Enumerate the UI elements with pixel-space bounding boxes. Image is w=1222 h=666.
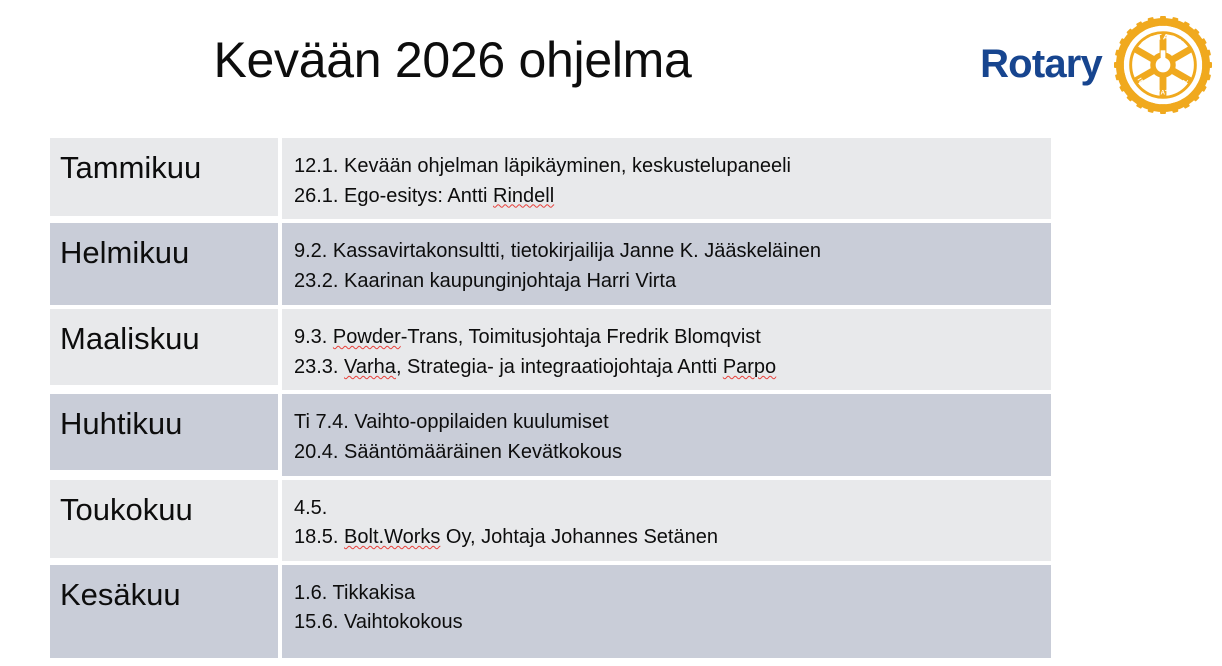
table-row: Toukokuu4.5.18.5. Bolt.Works Oy, Johtaja… — [50, 480, 1051, 565]
month-label: Tammikuu — [60, 150, 270, 187]
events-cell: 9.2. Kassavirtakonsultti, tietokirjailij… — [282, 223, 1051, 309]
page-title: Kevään 2026 ohjelma — [0, 33, 905, 88]
event-line: 12.1. Kevään ohjelman läpikäyminen, kesk… — [294, 152, 1043, 182]
table-row: Tammikuu12.1. Kevään ohjelman läpikäymin… — [50, 138, 1051, 223]
month-label: Kesäkuu — [60, 577, 270, 614]
rotary-gear-wheel-icon: ROTARY INTERNATIONAL — [1114, 16, 1212, 114]
month-cell: Tammikuu — [50, 138, 282, 223]
rotary-wordmark: Rotary — [980, 44, 1102, 84]
table-body: Tammikuu12.1. Kevään ohjelman läpikäymin… — [50, 138, 1051, 662]
event-line: 1.6. Tikkakisa — [294, 579, 1043, 609]
event-line: 26.1. Ego-esitys: Antti Rindell — [294, 182, 1043, 212]
spring-program-table: Tammikuu12.1. Kevään ohjelman läpikäymin… — [50, 138, 1051, 662]
event-line: Ti 7.4. Vaihto-oppilaiden kuulumiset — [294, 408, 1043, 438]
event-line: 23.3. Varha, Strategia- ja integraatiojo… — [294, 353, 1043, 383]
month-label: Huhtikuu — [60, 406, 270, 443]
month-label: Helmikuu — [60, 235, 270, 272]
month-cell: Toukokuu — [50, 480, 282, 565]
events-cell: Ti 7.4. Vaihto-oppilaiden kuulumiset20.4… — [282, 394, 1051, 479]
table-row: HuhtikuuTi 7.4. Vaihto-oppilaiden kuulum… — [50, 394, 1051, 479]
table-row: Kesäkuu1.6. Tikkakisa15.6. Vaihtokokous — [50, 565, 1051, 662]
events-cell: 12.1. Kevään ohjelman läpikäyminen, kesk… — [282, 138, 1051, 223]
month-cell: Kesäkuu — [50, 565, 282, 662]
event-line: 23.2. Kaarinan kaupunginjohtaja Harri Vi… — [294, 267, 1043, 297]
month-label: Maaliskuu — [60, 321, 270, 358]
event-line: 18.5. Bolt.Works Oy, Johtaja Johannes Se… — [294, 523, 1043, 553]
month-cell: Helmikuu — [50, 223, 282, 309]
event-line: 20.4. Sääntömääräinen Kevätkokous — [294, 438, 1043, 468]
event-line: 9.2. Kassavirtakonsultti, tietokirjailij… — [294, 237, 1043, 267]
events-cell: 4.5.18.5. Bolt.Works Oy, Johtaja Johanne… — [282, 480, 1051, 565]
month-label: Toukokuu — [60, 492, 270, 529]
event-line: 15.6. Vaihtokokous — [294, 608, 1043, 638]
month-cell: Huhtikuu — [50, 394, 282, 479]
month-cell: Maaliskuu — [50, 309, 282, 394]
events-cell: 1.6. Tikkakisa15.6. Vaihtokokous — [282, 565, 1051, 662]
event-line: 9.3. Powder-Trans, Toimitusjohtaja Fredr… — [294, 323, 1043, 353]
event-line: 4.5. — [294, 494, 1043, 524]
events-cell: 9.3. Powder-Trans, Toimitusjohtaja Fredr… — [282, 309, 1051, 394]
rotary-logo: Rotary — [980, 14, 1212, 116]
slide-header: Kevään 2026 ohjelma Rotary — [0, 0, 1222, 130]
table-row: Helmikuu9.2. Kassavirtakonsultti, tietok… — [50, 223, 1051, 309]
table-row: Maaliskuu9.3. Powder-Trans, Toimitusjoht… — [50, 309, 1051, 394]
